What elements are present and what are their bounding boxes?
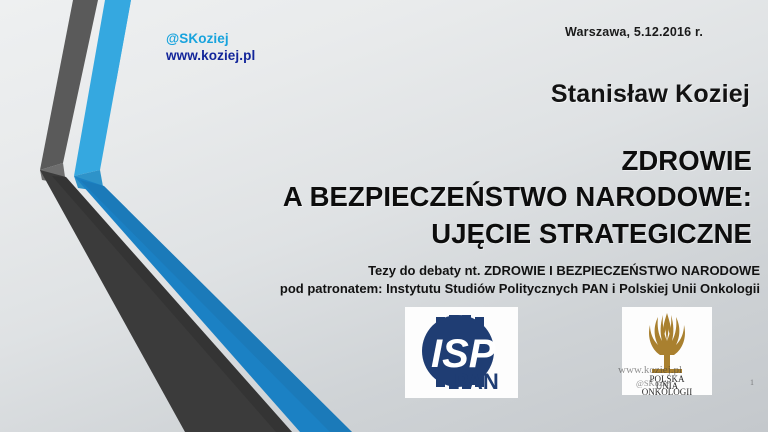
slide-title: ZDROWIE A BEZPIECZEŃSTWO NARODOWE: UJĘCI… (0, 143, 752, 252)
presentation-slide: @SKoziej www.koziej.pl Warszawa, 5.12.20… (0, 0, 768, 432)
website-url[interactable]: www.koziej.pl (166, 47, 255, 64)
title-line-3: UJĘCIE STRATEGICZNE (0, 216, 752, 252)
logo-isp-pan: ISP PAN (405, 307, 518, 398)
title-line-2: A BEZPIECZEŃSTWO NARODOWE: (0, 179, 752, 215)
title-line-1: ZDROWIE (0, 143, 752, 179)
isp-pan-logo-icon: ISP PAN (405, 307, 518, 398)
subtitle-line-2: pod patronatem: Instytutu Studiów Polity… (0, 280, 760, 298)
date-label: Warszawa, 5.12.2016 r. (0, 25, 703, 39)
author-name: Stanisław Koziej (0, 80, 750, 109)
watermark-mark: 1 (750, 378, 754, 387)
logo-polska-unia-onkologii: POLSKA UNIA ONKOLOGII (622, 307, 712, 395)
svg-text:ONKOLOGII: ONKOLOGII (642, 387, 693, 395)
slide-subtitle: Tezy do debaty nt. ZDROWIE I BEZPIECZEŃS… (0, 262, 760, 299)
puo-flame-icon: POLSKA UNIA ONKOLOGII (622, 307, 712, 395)
subtitle-line-1: Tezy do debaty nt. ZDROWIE I BEZPIECZEŃS… (0, 262, 760, 280)
svg-text:PAN: PAN (454, 369, 499, 394)
